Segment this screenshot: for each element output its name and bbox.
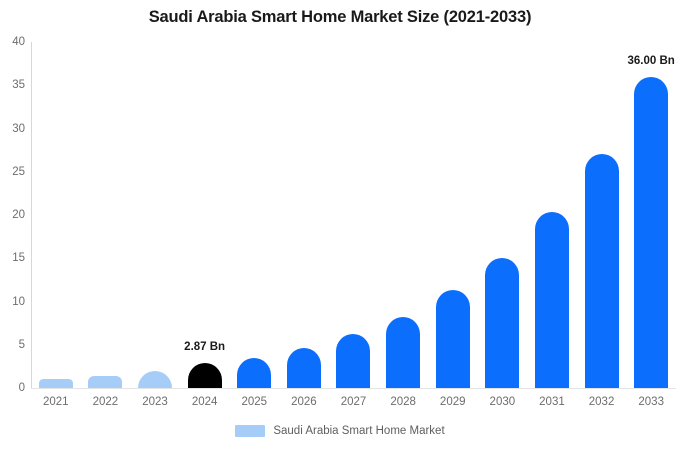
bar-2023[interactable] [138,371,172,388]
bar-slot [81,42,131,388]
y-axis-tick-label: 25 [0,166,25,178]
bar-2021[interactable] [39,379,73,388]
y-axis-tick-label: 30 [0,123,25,135]
bar-slot [329,42,379,388]
bar-2022[interactable] [88,376,122,388]
x-axis-tick-label: 2032 [589,396,615,408]
bars-layer: 2.87 Bn36.00 Bn [31,42,676,388]
bar-slot: 36.00 Bn [626,42,676,388]
chart-container: Saudi Arabia Smart Home Market Size (202… [0,0,680,450]
y-axis-tick-label: 15 [0,252,25,264]
bar-slot [527,42,577,388]
bar-2030[interactable] [485,258,519,388]
bar-slot [577,42,627,388]
x-axis-line [31,388,676,389]
y-axis-tick-label: 5 [0,339,25,351]
legend-swatch[interactable] [235,425,265,437]
bar-2024[interactable] [188,363,222,388]
bar-slot [229,42,279,388]
bar-slot [279,42,329,388]
bar-2028[interactable] [386,317,420,388]
chart-title: Saudi Arabia Smart Home Market Size (202… [0,8,680,27]
plot-area: 2.87 Bn36.00 Bn [31,42,676,388]
bar-slot [478,42,528,388]
x-axis-tick-label: 2027 [341,396,367,408]
bar-value-label-2024: 2.87 Bn [184,341,225,353]
y-axis-tick-label: 20 [0,209,25,221]
bar-2027[interactable] [336,334,370,388]
bar-2026[interactable] [287,348,321,388]
x-axis-tick-label: 2021 [43,396,69,408]
y-axis-tick-label: 10 [0,296,25,308]
bar-2032[interactable] [585,154,619,388]
bar-slot [378,42,428,388]
x-axis-tick-label: 2033 [638,396,664,408]
x-axis-tick-label: 2028 [390,396,416,408]
x-axis-tick-labels: 2021202220232024202520262027202820292030… [31,396,676,416]
x-axis-tick-label: 2030 [490,396,516,408]
x-axis-tick-label: 2025 [241,396,267,408]
bar-2031[interactable] [535,212,569,388]
y-axis-tick-label: 0 [0,382,25,394]
x-axis-tick-label: 2031 [539,396,565,408]
bar-2029[interactable] [436,290,470,388]
x-axis-tick-label: 2029 [440,396,466,408]
y-axis-tick-label: 35 [0,79,25,91]
bar-2033[interactable] [634,77,668,388]
bar-value-label-2033: 36.00 Bn [628,55,675,67]
x-axis-tick-label: 2023 [142,396,168,408]
y-axis-tick-label: 40 [0,36,25,48]
bar-slot [428,42,478,388]
chart-legend: Saudi Arabia Smart Home Market [0,425,680,437]
bar-slot [31,42,81,388]
bar-2025[interactable] [237,358,271,388]
bar-slot [130,42,180,388]
x-axis-tick-label: 2022 [93,396,119,408]
x-axis-tick-label: 2024 [192,396,218,408]
x-axis-tick-label: 2026 [291,396,317,408]
bar-slot: 2.87 Bn [180,42,230,388]
legend-label[interactable]: Saudi Arabia Smart Home Market [273,425,444,437]
